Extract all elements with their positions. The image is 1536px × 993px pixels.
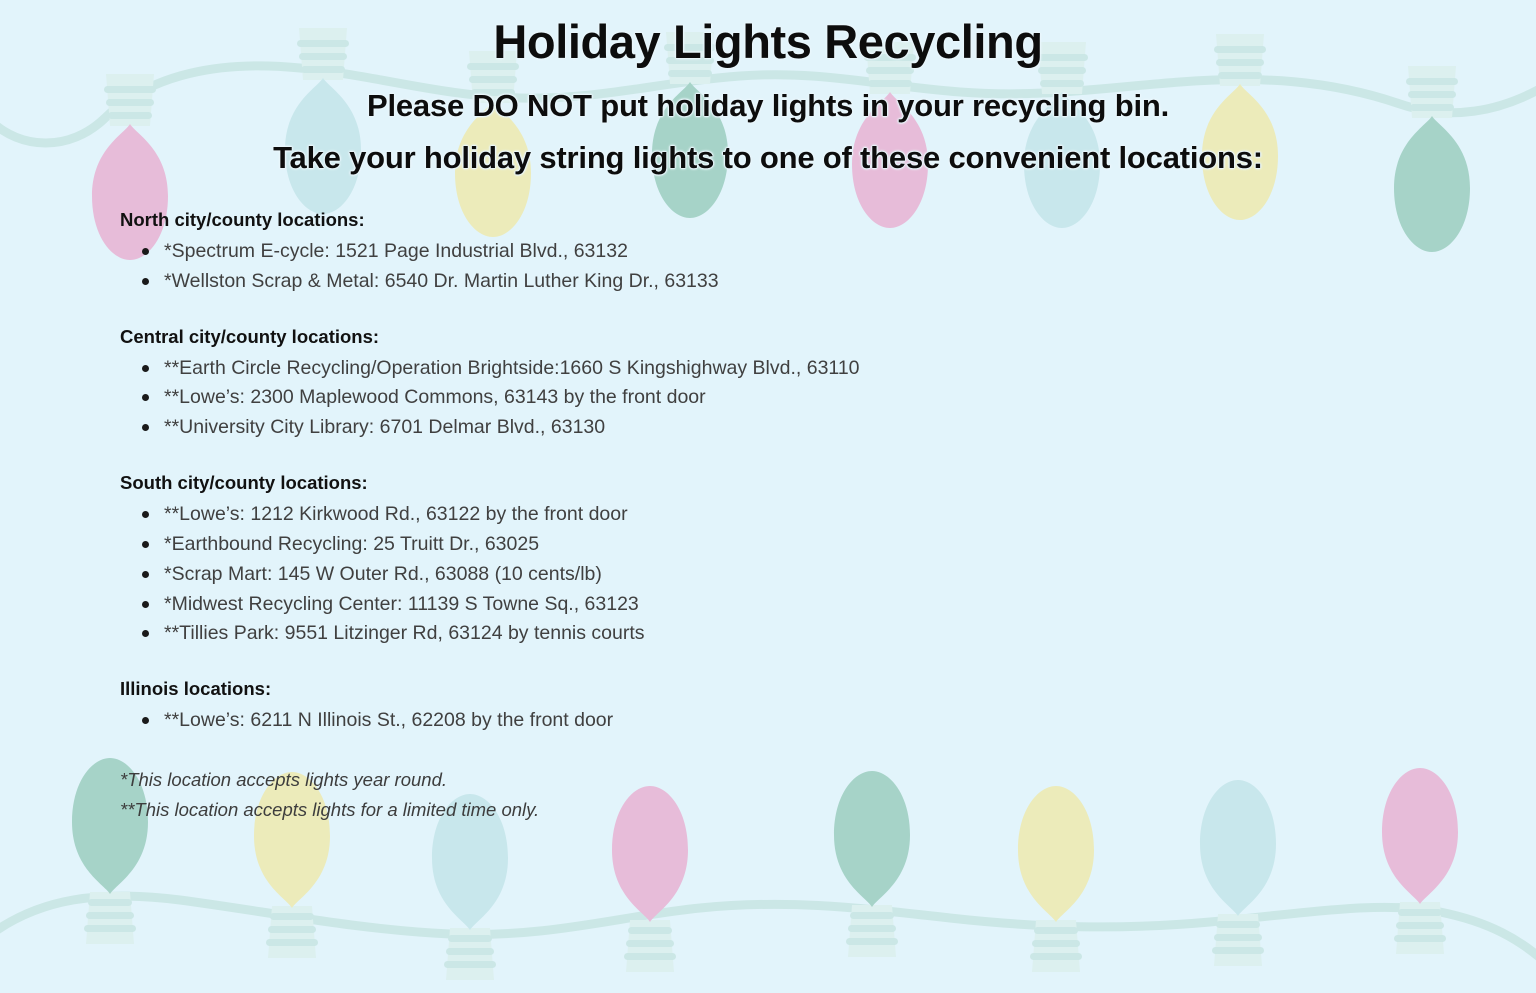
location-list: **Earth Circle Recycling/Operation Brigh…: [120, 354, 1370, 443]
list-item: **Lowe’s: 2300 Maplewood Commons, 63143 …: [120, 383, 1370, 413]
bullet-icon: [142, 394, 149, 401]
list-item: *Wellston Scrap & Metal: 6540 Dr. Martin…: [120, 267, 1370, 297]
section-north: North city/county locations: *Spectrum E…: [120, 208, 1370, 297]
list-item: **Lowe’s: 6211 N Illinois St., 62208 by …: [120, 706, 1370, 736]
bullet-icon: [142, 541, 149, 548]
section-heading: Illinois locations:: [120, 677, 1370, 702]
list-item: *Midwest Recycling Center: 11139 S Towne…: [120, 590, 1370, 620]
bullet-icon: [142, 717, 149, 724]
section-heading: South city/county locations:: [120, 471, 1370, 496]
list-item: **University City Library: 6701 Delmar B…: [120, 413, 1370, 443]
bullet-icon: [142, 601, 149, 608]
location-text: *Wellston Scrap & Metal: 6540 Dr. Martin…: [164, 270, 719, 292]
location-list: **Lowe’s: 1212 Kirkwood Rd., 63122 by th…: [120, 500, 1370, 649]
location-text: **Tillies Park: 9551 Litzinger Rd, 63124…: [164, 622, 645, 644]
list-item: **Lowe’s: 1212 Kirkwood Rd., 63122 by th…: [120, 500, 1370, 530]
subtitle-line-1: Please DO NOT put holiday lights in your…: [0, 88, 1536, 124]
location-text: **Lowe’s: 1212 Kirkwood Rd., 63122 by th…: [164, 503, 628, 525]
list-item: *Earthbound Recycling: 25 Truitt Dr., 63…: [120, 530, 1370, 560]
page-title: Holiday Lights Recycling: [0, 14, 1536, 69]
list-item: *Spectrum E-cycle: 1521 Page Industrial …: [120, 237, 1370, 267]
location-text: **University City Library: 6701 Delmar B…: [164, 416, 605, 438]
bullet-icon: [142, 571, 149, 578]
location-text: **Earth Circle Recycling/Operation Brigh…: [164, 357, 860, 379]
footnotes: *This location accepts lights year round…: [120, 765, 539, 824]
bullet-icon: [142, 511, 149, 518]
location-list: **Lowe’s: 6211 N Illinois St., 62208 by …: [120, 706, 1370, 736]
section-illinois: Illinois locations: **Lowe’s: 6211 N Ill…: [120, 677, 1370, 736]
bullet-icon: [142, 424, 149, 431]
footnote-double-star: **This location accepts lights for a lim…: [120, 795, 539, 825]
location-text: *Midwest Recycling Center: 11139 S Towne…: [164, 593, 639, 615]
list-item: *Scrap Mart: 145 W Outer Rd., 63088 (10 …: [120, 560, 1370, 590]
list-item: **Earth Circle Recycling/Operation Brigh…: [120, 354, 1370, 384]
bullet-icon: [142, 365, 149, 372]
bullet-icon: [142, 630, 149, 637]
section-south: South city/county locations: **Lowe’s: 1…: [120, 471, 1370, 649]
section-heading: Central city/county locations:: [120, 325, 1370, 350]
location-text: *Scrap Mart: 145 W Outer Rd., 63088 (10 …: [164, 563, 602, 585]
location-list: *Spectrum E-cycle: 1521 Page Industrial …: [120, 237, 1370, 297]
bullet-icon: [142, 248, 149, 255]
bullet-icon: [142, 278, 149, 285]
location-text: **Lowe’s: 2300 Maplewood Commons, 63143 …: [164, 386, 706, 408]
location-text: **Lowe’s: 6211 N Illinois St., 62208 by …: [164, 709, 613, 731]
subtitle-line-2: Take your holiday string lights to one o…: [0, 140, 1536, 176]
section-heading: North city/county locations:: [120, 208, 1370, 233]
section-central: Central city/county locations: **Earth C…: [120, 325, 1370, 443]
footnote-single-star: *This location accepts lights year round…: [120, 765, 539, 795]
location-text: *Earthbound Recycling: 25 Truitt Dr., 63…: [164, 533, 539, 555]
location-text: *Spectrum E-cycle: 1521 Page Industrial …: [164, 240, 628, 262]
list-item: **Tillies Park: 9551 Litzinger Rd, 63124…: [120, 619, 1370, 649]
locations-body: North city/county locations: *Spectrum E…: [120, 208, 1370, 736]
flyer-content: Holiday Lights Recycling Please DO NOT p…: [0, 0, 1536, 993]
